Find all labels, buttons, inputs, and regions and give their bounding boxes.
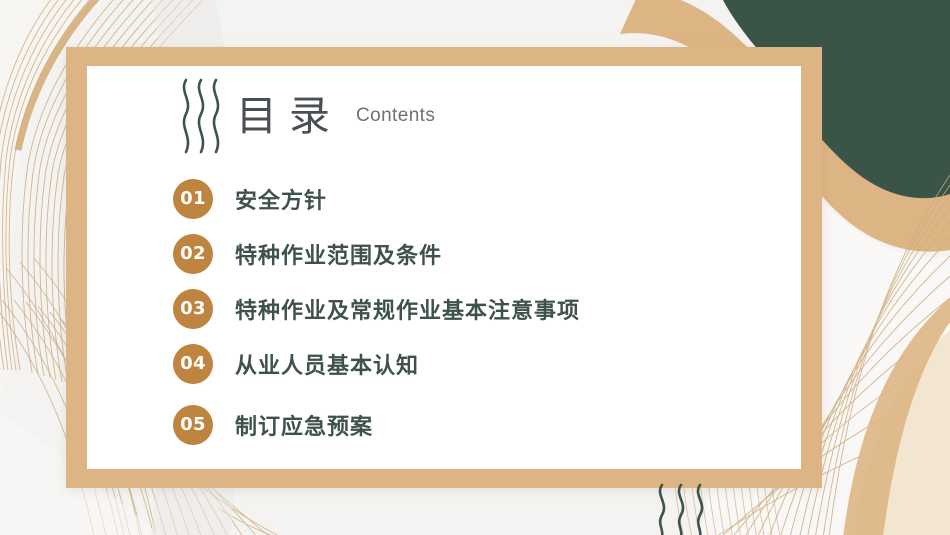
item-label: 特种作业范围及条件 <box>235 238 442 270</box>
wavy-lines-icon-bottom <box>650 483 720 535</box>
item-label: 特种作业及常规作业基本注意事项 <box>235 293 580 325</box>
item-number-badge: 05 <box>173 405 213 445</box>
slide-canvas: 目录 Contents 01 安全方针 02 特种作业范围及条件 03 特种作业… <box>0 0 950 535</box>
list-item[interactable]: 05 制订应急预案 <box>173 397 771 452</box>
item-number-badge: 04 <box>173 344 213 384</box>
page-title: 目录 Contents <box>176 80 435 152</box>
title-chinese: 目录 <box>236 96 342 137</box>
item-label: 从业人员基本认知 <box>235 348 419 380</box>
item-number-badge: 03 <box>173 289 213 329</box>
title-english: Contents <box>356 105 435 127</box>
content-frame: 目录 Contents 01 安全方针 02 特种作业范围及条件 03 特种作业… <box>66 47 822 488</box>
item-label: 安全方针 <box>235 183 327 215</box>
item-label: 制订应急预案 <box>235 409 373 441</box>
item-number-badge: 01 <box>173 179 213 219</box>
list-item[interactable]: 04 从业人员基本认知 <box>173 336 771 391</box>
wavy-lines-icon <box>176 76 228 156</box>
content-panel: 目录 Contents 01 安全方针 02 特种作业范围及条件 03 特种作业… <box>87 66 801 469</box>
list-item[interactable]: 01 安全方针 <box>173 171 771 226</box>
list-item[interactable]: 02 特种作业范围及条件 <box>173 226 771 281</box>
list-item[interactable]: 03 特种作业及常规作业基本注意事项 <box>173 281 771 336</box>
item-number-badge: 02 <box>173 234 213 274</box>
contents-list: 01 安全方针 02 特种作业范围及条件 03 特种作业及常规作业基本注意事项 … <box>173 171 771 452</box>
